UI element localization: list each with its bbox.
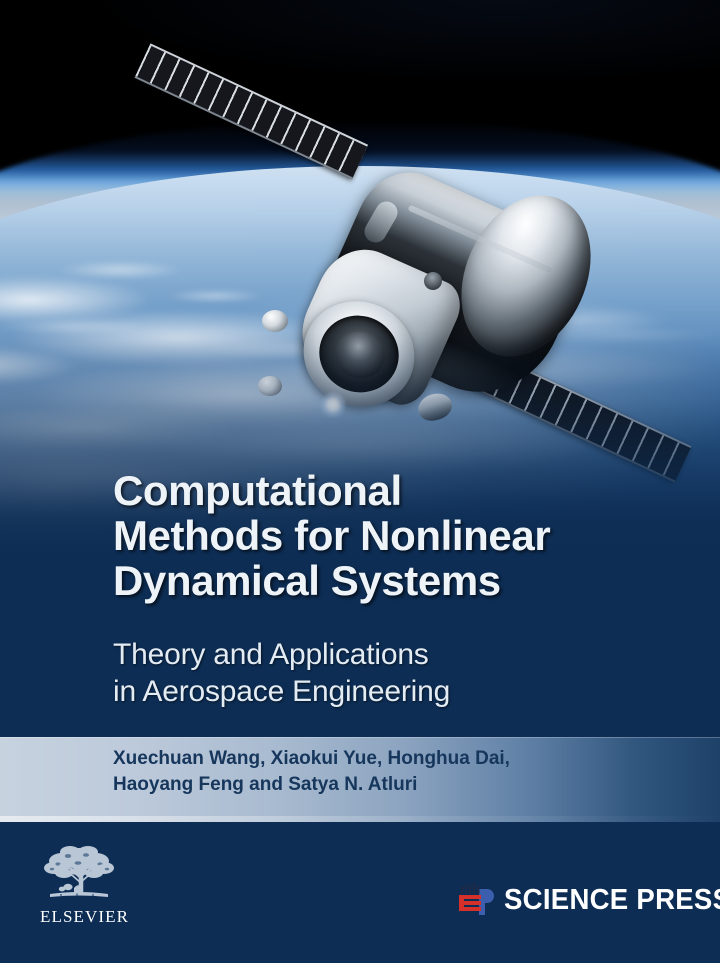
author-line-1: Xuechuan Wang, Xiaokui Yue, Honghua Dai,	[113, 746, 673, 772]
book-title: Computational Methods for Nonlinear Dyna…	[113, 468, 673, 603]
subtitle-line-2: in Aerospace Engineering	[113, 673, 673, 710]
title-line-3: Dynamical Systems	[113, 558, 673, 603]
elsevier-wordmark: ELSEVIER	[40, 907, 126, 927]
solar-panel-left	[134, 43, 368, 179]
science-press-sp-icon	[455, 883, 495, 917]
title-line-2: Methods for Nonlinear	[113, 513, 673, 558]
author-names: Xuechuan Wang, Xiaokui Yue, Honghua Dai,…	[113, 746, 673, 798]
science-press-logo: SCIENCE PRESS	[455, 883, 720, 917]
author-line-2: Haoyang Feng and Satya N. Atluri	[113, 772, 673, 798]
elsevier-tree-icon	[40, 842, 118, 904]
book-subtitle: Theory and Applications in Aerospace Eng…	[113, 636, 673, 710]
book-cover: Computational Methods for Nonlinear Dyna…	[0, 0, 720, 963]
elsevier-logo: ELSEVIER	[40, 842, 126, 927]
science-press-wordmark: SCIENCE PRESS	[504, 884, 720, 917]
subtitle-line-1: Theory and Applications	[113, 636, 673, 673]
title-line-1: Computational	[113, 468, 673, 513]
spacecraft-thruster-upper	[262, 310, 288, 332]
